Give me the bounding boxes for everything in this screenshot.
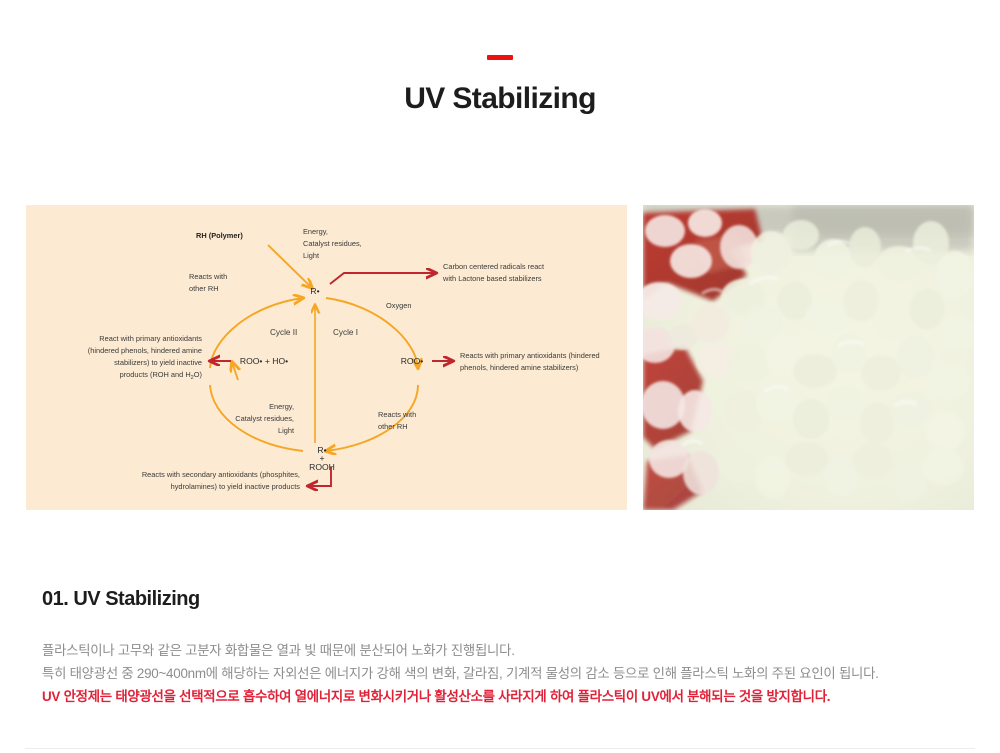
label-cycle-one: Cycle I bbox=[333, 328, 358, 337]
label-primary-antioxidants-left-4: products (ROH and H2O) bbox=[120, 370, 202, 381]
label-rh-polymer: RH (Polymer) bbox=[196, 231, 243, 240]
label-reacts-other-rh-left-2: other RH bbox=[189, 284, 219, 293]
label-cycle-two: Cycle II bbox=[270, 328, 297, 337]
label-primary-antioxidants-left-2: (hindered phenols, hindered amine bbox=[88, 346, 202, 355]
label-carbon-radicals-1: Carbon centered radicals react bbox=[443, 262, 544, 271]
label-primary-antioxidants-right-2: phenols, hindered amine stabilizers) bbox=[460, 363, 578, 372]
media-row: R• ROO• ROO• + HO• R• + ROOH RH (Polymer… bbox=[26, 205, 974, 510]
label-energy-bottom-1: Energy, bbox=[269, 402, 294, 411]
label-energy-top-2: Catalyst residues, bbox=[303, 239, 362, 248]
label-primary-antioxidants-left-4c: O) bbox=[194, 370, 202, 379]
node-rooh: ROOH bbox=[309, 462, 335, 472]
label-primary-antioxidants-left-1: React with primary antioxidants bbox=[99, 334, 202, 343]
paragraph-line-2: 특히 태양광선 중 290~400nm에 해당하는 자외선은 에너지가 강해 색… bbox=[42, 662, 982, 685]
label-energy-bottom-3: Light bbox=[278, 426, 294, 435]
label-reacts-other-rh-right-2: other RH bbox=[378, 422, 408, 431]
page-title: UV Stabilizing bbox=[0, 82, 1000, 115]
label-primary-antioxidants-right-1: Reacts with primary antioxidants (hinder… bbox=[460, 351, 600, 360]
footer-divider bbox=[25, 748, 975, 749]
page-header: UV Stabilizing bbox=[0, 0, 1000, 115]
label-energy-top-3: Light bbox=[303, 251, 319, 260]
label-primary-antioxidants-left-3: stabilizers) to yield inactive bbox=[114, 358, 202, 367]
paragraph-line-1: 플라스틱이나 고무와 같은 고분자 화합물은 열과 빛 때문에 분산되어 노화가… bbox=[42, 639, 982, 662]
section-paragraph: 플라스틱이나 고무와 같은 고분자 화합물은 열과 빛 때문에 분산되어 노화가… bbox=[42, 639, 982, 708]
section-heading: 01. UV Stabilizing bbox=[42, 586, 982, 612]
content-section: 01. UV Stabilizing 플라스틱이나 고무와 같은 고분자 화합물… bbox=[42, 586, 982, 708]
node-r-radical-top: R• bbox=[310, 286, 319, 296]
label-secondary-antioxidants-2: hydrolamines) to yield inactive products bbox=[171, 482, 301, 491]
accent-dash-icon bbox=[487, 55, 513, 60]
label-reacts-other-rh-left-1: Reacts with bbox=[189, 272, 227, 281]
carbon-radicals-red-arrow bbox=[330, 273, 436, 284]
label-energy-top-1: Energy, bbox=[303, 227, 328, 236]
label-secondary-antioxidants-1: Reacts with secondary antioxidants (phos… bbox=[142, 470, 300, 479]
node-roo-ho-left: ROO• + HO• bbox=[240, 356, 288, 366]
uv-degradation-cycle-diagram: R• ROO• ROO• + HO• R• + ROOH RH (Polymer… bbox=[26, 205, 627, 510]
label-carbon-radicals-2: with Lactone based stabilizers bbox=[442, 274, 542, 283]
diagram-svg: R• ROO• ROO• + HO• R• + ROOH RH (Polymer… bbox=[26, 205, 627, 510]
node-roo-right: ROO• bbox=[401, 356, 424, 366]
label-primary-antioxidants-left-4a: products (ROH and H bbox=[120, 370, 191, 379]
roo-ho-feed-arrow bbox=[232, 362, 238, 380]
label-energy-bottom-2: Catalyst residues, bbox=[235, 414, 294, 423]
paragraph-line-3-highlight: UV 안정제는 태양광선을 선택적으로 흡수하여 열에너지로 변화시키거나 활성… bbox=[42, 685, 982, 708]
photo-svg bbox=[643, 205, 974, 510]
plastic-pellets-photo bbox=[643, 205, 974, 510]
label-reacts-other-rh-right-1: Reacts with bbox=[378, 410, 416, 419]
label-oxygen: Oxygen bbox=[386, 301, 411, 310]
